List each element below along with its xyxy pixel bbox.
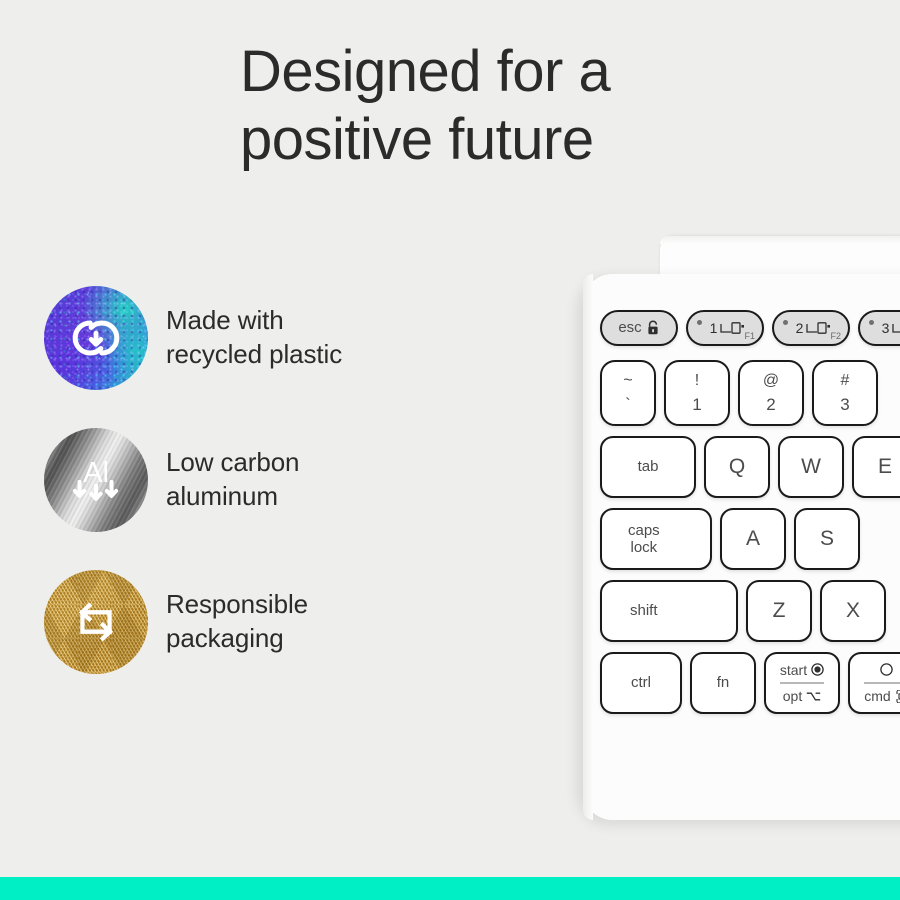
- key-fn-label: fn: [717, 674, 730, 691]
- key-fn[interactable]: fn: [690, 652, 756, 714]
- key-shift[interactable]: shift: [600, 580, 738, 642]
- sustainability-feature-list: Made with recycled plastic Al Low carbon…: [44, 278, 514, 682]
- key-tilde-upper: ~: [623, 372, 632, 390]
- key-tilde[interactable]: ~ `: [600, 360, 656, 426]
- key-2-upper: @: [763, 372, 779, 390]
- key-shift-label: shift: [630, 602, 658, 619]
- key-ctrl-label: ctrl: [631, 674, 651, 691]
- key-q[interactable]: Q: [704, 436, 770, 498]
- key-caps-lock-label: caps lock: [626, 522, 660, 557]
- key-s-label: S: [820, 527, 834, 551]
- key-2-lower: 2: [766, 395, 775, 415]
- recycle-loop-icon: [65, 307, 127, 369]
- key-ctrl[interactable]: ctrl: [600, 652, 682, 714]
- badge-recycled-plastic: [44, 286, 148, 390]
- key-esc[interactable]: esc: [600, 310, 678, 346]
- key-z[interactable]: Z: [746, 580, 812, 642]
- key-f2-label: F2: [830, 331, 841, 341]
- device-switch-icon: [720, 321, 746, 336]
- key-e[interactable]: E: [852, 436, 900, 498]
- key-esc-label: esc: [618, 319, 641, 336]
- key-w[interactable]: W: [778, 436, 844, 498]
- key-opt-label: opt: [783, 688, 802, 704]
- key-3-upper: #: [841, 372, 850, 390]
- key-q-label: Q: [729, 455, 745, 479]
- key-a[interactable]: A: [720, 508, 786, 570]
- keyboard-row-shift: shift Z X: [600, 580, 886, 642]
- key-1[interactable]: ! 1: [664, 360, 730, 426]
- keyboard-row-modifier: ctrl fn start opt: [600, 652, 900, 714]
- key-cmd-label: cmd: [864, 688, 890, 704]
- key-e-label: E: [878, 455, 892, 479]
- key-w-label: W: [801, 455, 821, 479]
- device-switch-icon: [806, 321, 832, 336]
- key-3-lower: 3: [840, 395, 849, 415]
- feature-label: Low carbon aluminum: [166, 446, 299, 514]
- f3-led-indicator: [869, 320, 874, 325]
- apple-cmd-icon: [880, 663, 893, 676]
- key-tab[interactable]: tab: [600, 436, 696, 498]
- key-f2-number: 2: [796, 320, 804, 336]
- badge-responsible-packaging: [44, 570, 148, 674]
- page-title: Designed for a positive future: [240, 38, 860, 175]
- key-f1[interactable]: 1 F1: [686, 310, 764, 346]
- key-f2[interactable]: 2 F2: [772, 310, 850, 346]
- keyboard-row-function: esc 1: [600, 310, 900, 346]
- keyboard-row-qwerty: tab Q W E: [600, 436, 900, 498]
- device-switch-icon: [892, 321, 900, 336]
- aluminum-down-arrows-icon: Al: [65, 449, 127, 511]
- key-3[interactable]: # 3: [812, 360, 878, 426]
- key-cmd[interactable]: cmd: [848, 652, 900, 714]
- feature-recycled-plastic: Made with recycled plastic: [44, 278, 514, 398]
- key-f1-number: 1: [710, 320, 718, 336]
- lock-icon: [646, 320, 660, 336]
- option-alt-icon: [806, 691, 821, 702]
- keyboard-row-number: ~ ` ! 1 @ 2: [600, 360, 878, 426]
- product-feature-panel: Designed for a positive future Made with…: [0, 0, 900, 900]
- keyboard-key-rows: esc 1: [583, 274, 900, 820]
- key-s[interactable]: S: [794, 508, 860, 570]
- key-caps-lock[interactable]: caps lock: [600, 508, 712, 570]
- key-a-label: A: [746, 527, 760, 551]
- key-x[interactable]: X: [820, 580, 886, 642]
- badge-low-carbon-aluminum: Al: [44, 428, 148, 532]
- key-x-label: X: [846, 599, 860, 623]
- key-z-label: Z: [773, 599, 786, 623]
- feature-label: Made with recycled plastic: [166, 304, 342, 372]
- feature-responsible-packaging: Responsible packaging: [44, 562, 514, 682]
- keyboard-product-image: esc 1: [583, 236, 900, 820]
- key-f1-label: F1: [744, 331, 755, 341]
- key-f3[interactable]: 3 F3: [858, 310, 900, 346]
- key-tab-label: tab: [638, 458, 659, 475]
- packaging-loop-square-icon: [65, 591, 127, 653]
- key-2[interactable]: @ 2: [738, 360, 804, 426]
- keyboard-row-home: caps lock A S: [600, 508, 860, 570]
- feature-low-carbon-aluminum: Al Low carbon aluminum: [44, 420, 514, 540]
- key-1-upper: !: [695, 372, 699, 390]
- key-start-label: start: [780, 662, 807, 678]
- feature-label: Responsible packaging: [166, 588, 308, 656]
- key-tilde-lower: `: [625, 395, 631, 415]
- windows-start-dot-icon: [811, 663, 824, 676]
- key-start-opt[interactable]: start opt: [764, 652, 840, 714]
- key-1-lower: 1: [692, 395, 701, 415]
- f2-led-indicator: [783, 320, 788, 325]
- command-icon: [895, 690, 900, 703]
- f1-led-indicator: [697, 320, 702, 325]
- bottom-accent-band: [0, 877, 900, 900]
- key-f3-number: 3: [882, 320, 890, 336]
